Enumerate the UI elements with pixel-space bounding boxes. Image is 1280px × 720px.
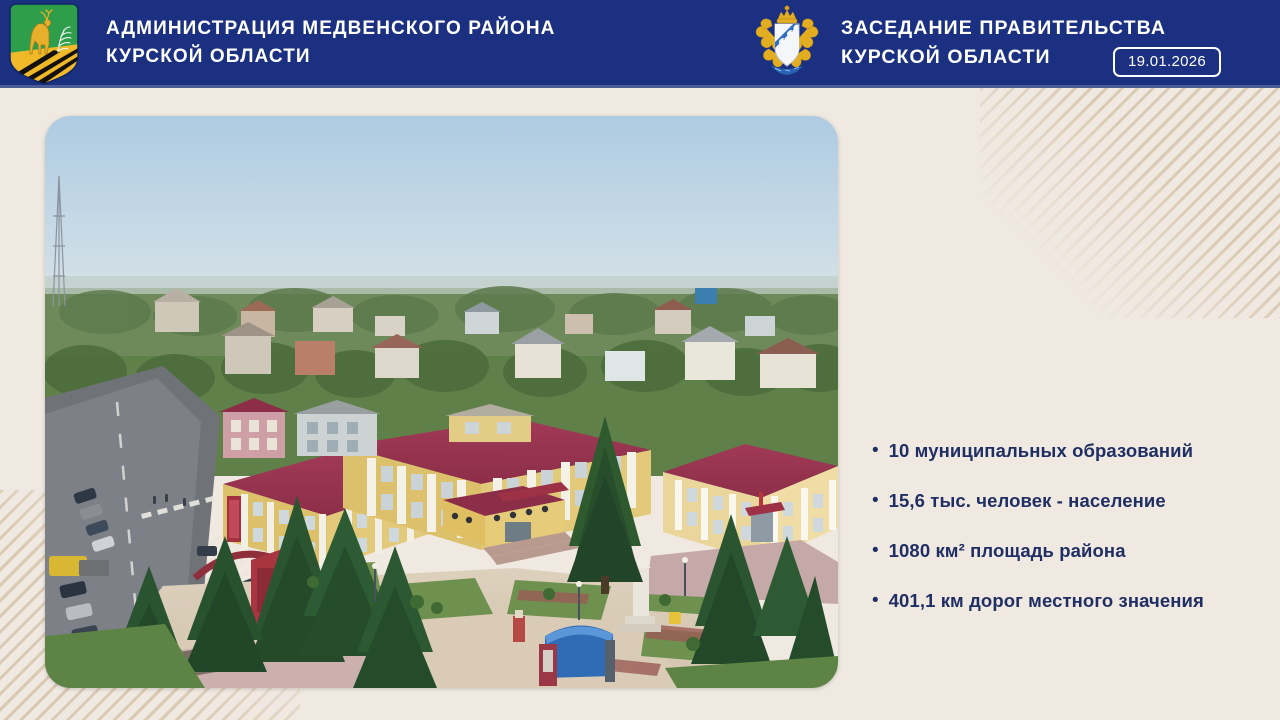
fact-text: 10 муниципальных образований (889, 440, 1193, 462)
kursk-oblast-coat-of-arms-icon (751, 3, 823, 83)
medvenka-aerial-town-square-photo (45, 116, 838, 688)
fact-text: 1080 км² площадь района (889, 540, 1126, 562)
list-item: • 15,6 тыс. человек - население (872, 490, 1272, 512)
list-item: • 1080 км² площадь района (872, 540, 1272, 562)
fact-text: 401,1 км дорог местного значения (889, 590, 1204, 612)
meeting-title-line1: ЗАСЕДАНИЕ ПРАВИТЕЛЬСТВА (841, 14, 1166, 42)
medvensky-district-coat-of-arms-icon (8, 0, 80, 85)
district-facts-list: • 10 муниципальных образований • 15,6 ты… (872, 440, 1272, 612)
administration-title: АДМИНИСТРАЦИЯ МЕДВЕНСКОГО РАЙОНА КУРСКОЙ… (106, 15, 556, 70)
bullet-dot-icon: • (872, 540, 879, 562)
administration-title-line1: АДМИНИСТРАЦИЯ МЕДВЕНСКОГО РАЙОНА (106, 15, 556, 43)
bullet-dot-icon: • (872, 440, 879, 462)
list-item: • 401,1 км дорог местного значения (872, 590, 1272, 612)
date-badge: 19.01.2026 (1113, 47, 1221, 77)
bullet-dot-icon: • (872, 590, 879, 612)
administration-title-line2: КУРСКОЙ ОБЛАСТИ (106, 43, 556, 71)
bullet-dot-icon: • (872, 490, 879, 512)
header-right-block: ЗАСЕДАНИЕ ПРАВИТЕЛЬСТВА КУРСКОЙ ОБЛАСТИ (745, 0, 1166, 85)
header-left-block: АДМИНИСТРАЦИЯ МЕДВЕНСКОГО РАЙОНА КУРСКОЙ… (0, 0, 556, 85)
presentation-slide: АДМИНИСТРАЦИЯ МЕДВЕНСКОГО РАЙОНА КУРСКОЙ… (0, 0, 1280, 720)
slide-header: АДМИНИСТРАЦИЯ МЕДВЕНСКОГО РАЙОНА КУРСКОЙ… (0, 0, 1280, 88)
fact-text: 15,6 тыс. человек - население (889, 490, 1166, 512)
list-item: • 10 муниципальных образований (872, 440, 1272, 462)
diagonal-stripes-top-right (980, 88, 1280, 318)
